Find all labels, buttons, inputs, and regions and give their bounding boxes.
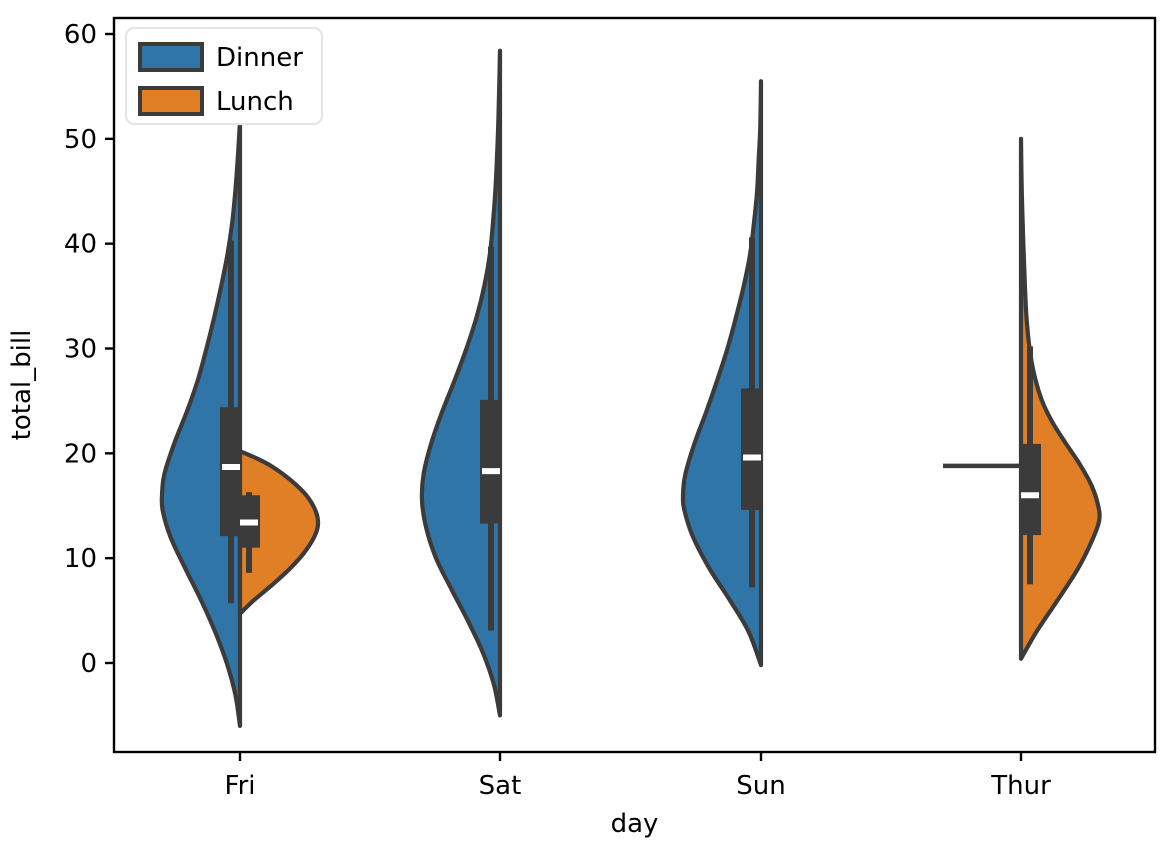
box-iqr — [741, 388, 763, 510]
y-tick-label: 10 — [64, 544, 97, 574]
legend-swatch-dinner — [140, 44, 202, 70]
box-iqr — [480, 400, 502, 524]
legend-item-lunch[interactable]: Lunch — [140, 87, 294, 117]
axis-labels-layer: 0102030405060FriSatSunThurdaytotal_bill — [7, 20, 1051, 839]
violin-chart-figure: 0102030405060FriSatSunThurdaytotal_bill … — [0, 0, 1169, 858]
x-tick-label-fri: Fri — [225, 771, 256, 801]
y-tick-label: 30 — [64, 335, 97, 365]
y-axis-label: total_bill — [7, 330, 37, 441]
chart-canvas: 0102030405060FriSatSunThurdaytotal_bill … — [0, 0, 1169, 858]
legend-item-dinner[interactable]: Dinner — [140, 43, 303, 73]
y-tick-label: 0 — [80, 649, 97, 679]
violins-layer — [162, 51, 1100, 726]
legend-label-dinner: Dinner — [216, 43, 303, 73]
y-tick-label: 60 — [64, 20, 97, 50]
boxplot-inner-layer — [220, 237, 1041, 630]
x-tick-label-sat: Sat — [479, 771, 522, 801]
legend-swatch-lunch — [140, 88, 202, 114]
x-tick-label-sun: Sun — [736, 771, 785, 801]
box-iqr — [1019, 444, 1041, 535]
y-tick-label: 50 — [64, 125, 97, 155]
chart-legend[interactable]: DinnerLunch — [126, 28, 322, 124]
axes-spines — [114, 18, 1155, 752]
legend-label-lunch: Lunch — [216, 87, 294, 117]
axes-layer — [105, 18, 1155, 761]
y-tick-label: 40 — [64, 230, 97, 260]
x-tick-label-thur: Thur — [990, 771, 1051, 801]
y-tick-label: 20 — [64, 439, 97, 469]
x-axis-label: day — [611, 809, 659, 839]
